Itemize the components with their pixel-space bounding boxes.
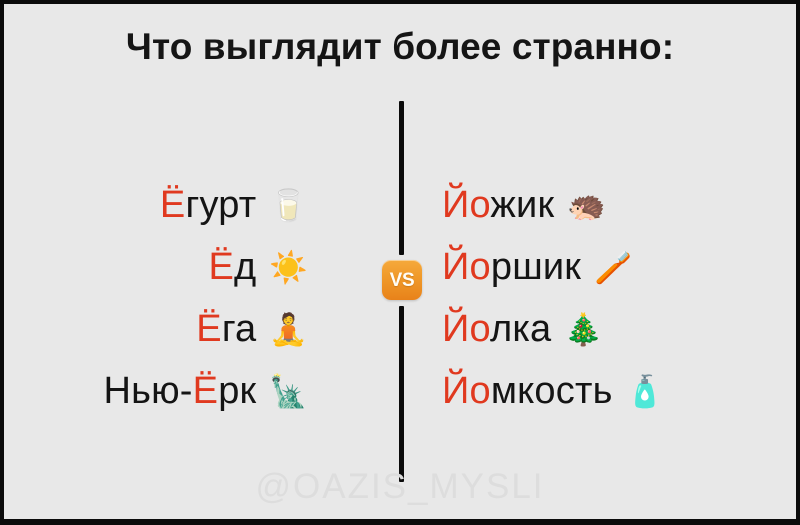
left-word-3: Нью-Ёрк [103,372,256,410]
right-word-3-rest: мкость [491,370,613,412]
left-list-item: Ёга 🧘 [6,300,386,358]
left-word-0: Ёгурт [160,186,257,224]
right-list-item: Йожик 🦔 [408,176,788,234]
left-word-3-highlight: Ё [193,370,219,412]
left-column: Ёгурт 🥛 Ёд ☀️ Ёга 🧘 Нью-Ёрк 🗽 [6,176,386,436]
right-word-1-rest: ршик [491,246,581,288]
right-word-3-highlight: Йо [442,370,491,412]
left-word-3-rest: рк [218,370,256,412]
right-list-item: Йолка 🎄 [408,300,788,358]
statue-of-liberty-emoji: 🗽 [269,376,308,407]
hedgehog-emoji: 🦔 [567,190,606,221]
left-word-1-highlight: Ё [208,246,234,288]
right-word-1-highlight: Йо [442,246,491,288]
right-word-3: Йомкость [442,372,613,410]
watermark: @OAZIS_MYSLI [4,467,796,507]
left-word-0-highlight: Ё [160,184,186,226]
left-word-2-rest: га [222,308,257,350]
right-list-item: Йоршик 🪥 [408,238,788,296]
right-word-0: Йожик [442,186,554,224]
left-word-2: Ёга [196,310,256,348]
right-word-2-highlight: Йо [442,308,490,350]
left-list-item: Ёд ☀️ [6,238,386,296]
person-in-lotus-position-emoji: 🧘 [269,314,308,345]
comparison-columns: Ёгурт 🥛 Ёд ☀️ Ёга 🧘 Нью-Ёрк 🗽 Йожик 🦔 [4,176,796,436]
lotion-bottle-emoji: 🧴 [626,376,665,407]
meme-title: Что выглядит более странно: [4,26,796,68]
left-word-3-prefix: Нью- [103,370,192,412]
right-word-2: Йолка [442,310,551,348]
right-column: Йожик 🦔 Йоршик 🪥 Йолка 🎄 Йомкость 🧴 [408,176,788,436]
right-word-0-highlight: Йо [442,184,490,226]
toothbrush-emoji: 🪥 [594,252,633,283]
sun-emoji: ☀️ [269,252,308,283]
left-list-item: Ёгурт 🥛 [6,176,386,234]
left-word-0-rest: гурт [185,184,256,226]
christmas-tree-emoji: 🎄 [564,314,603,345]
right-list-item: Йомкость 🧴 [408,362,788,420]
glass-of-milk-emoji: 🥛 [269,190,308,221]
left-word-1-rest: д [234,246,256,288]
right-word-2-rest: лка [490,308,551,350]
meme-image: Что выглядит более странно: VS Ёгурт 🥛 Ё… [0,0,800,525]
left-list-item: Нью-Ёрк 🗽 [6,362,386,420]
left-word-2-highlight: Ё [196,308,222,350]
left-word-1: Ёд [208,248,256,286]
right-word-0-rest: жик [490,184,554,226]
right-word-1: Йоршик [442,248,581,286]
